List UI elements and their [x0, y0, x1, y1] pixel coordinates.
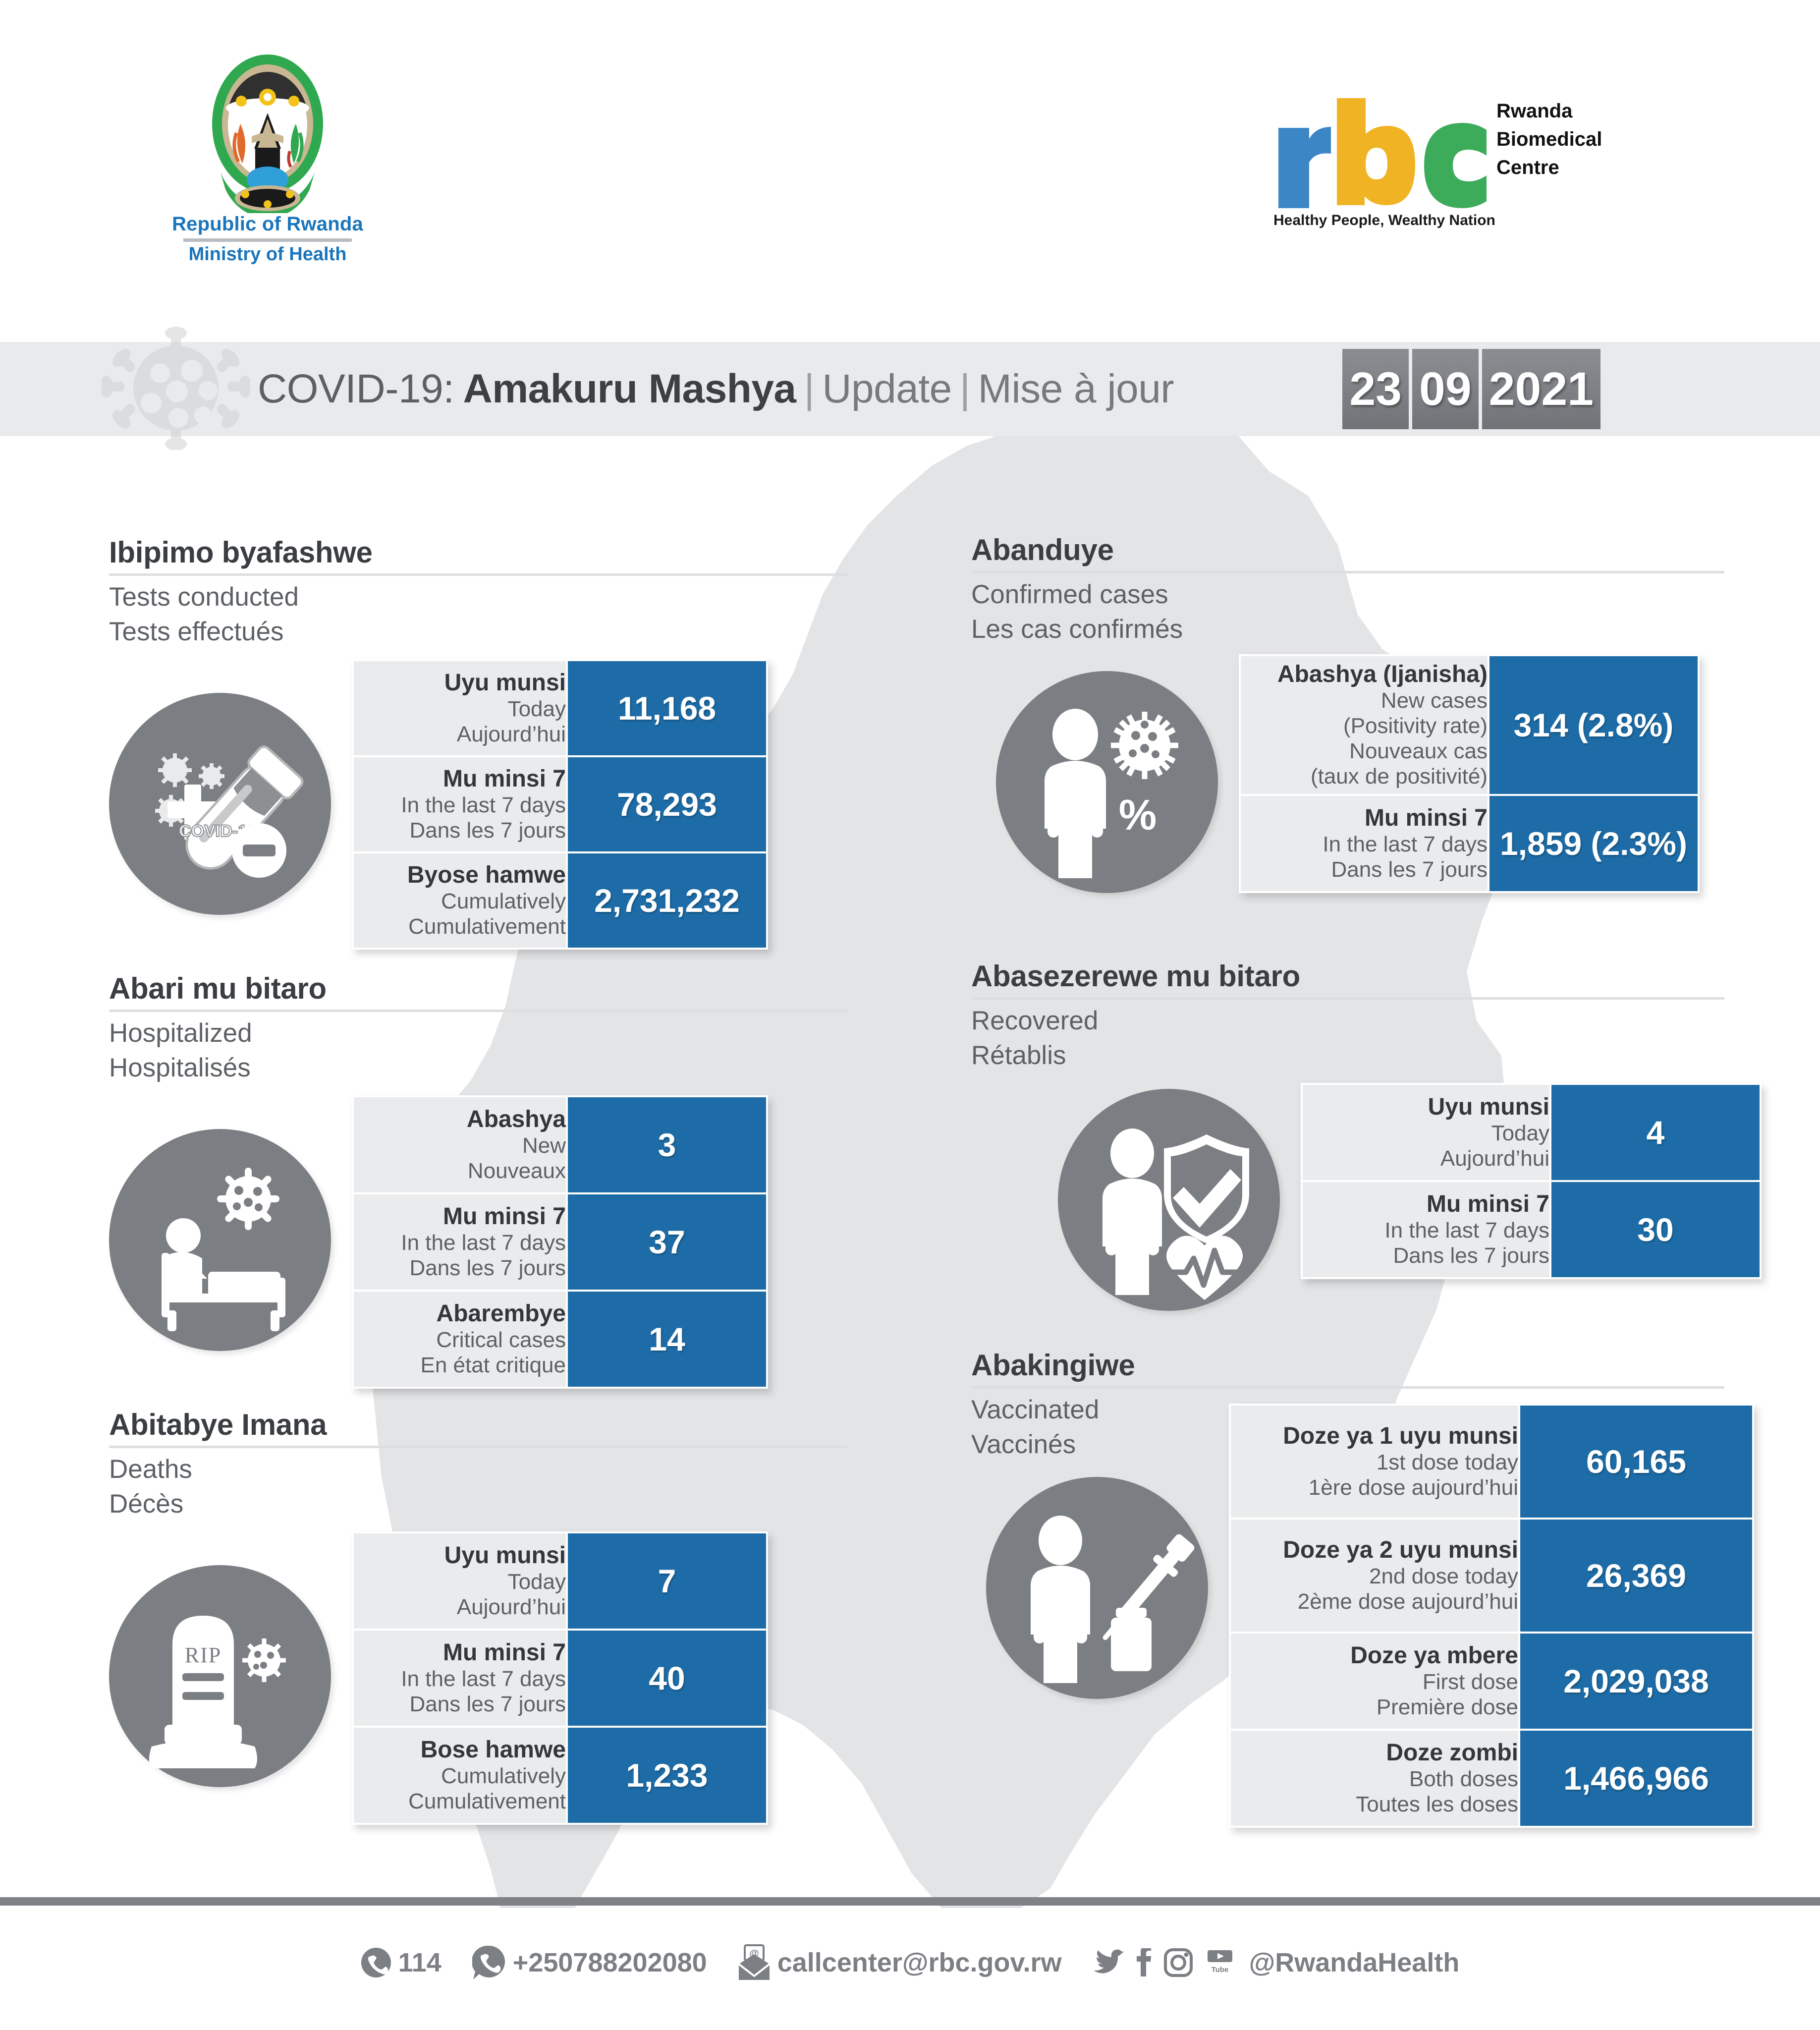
table-row: Doze ya 2 uyu munsi 2nd dose today 2ème …	[1230, 1519, 1753, 1633]
row-label-en: 2nd dose today	[1231, 1564, 1518, 1589]
row-label-en: Today	[1303, 1121, 1549, 1146]
row-label-fr: Dans les 7 jours	[354, 1692, 566, 1717]
row-label-rw: Doze ya 1 uyu munsi	[1231, 1423, 1518, 1450]
row-value: 78,293	[567, 756, 767, 852]
row-label-fr: Dans les 7 jours	[1303, 1243, 1549, 1268]
vaccinated-table: Doze ya 1 uyu munsi 1st dose today 1ère …	[1229, 1404, 1754, 1828]
rbc-wordmark-icon	[1273, 94, 1491, 208]
row-value: 37	[567, 1193, 767, 1291]
section-recovered-divider	[971, 997, 1724, 1000]
tests-table: Uyu munsi Today Aujourd’hui 11,168 Mu mi…	[352, 659, 768, 950]
row-label-fr: Cumulativement	[354, 914, 566, 939]
facebook-icon[interactable]	[1136, 1948, 1151, 1977]
instagram-icon[interactable]	[1164, 1948, 1193, 1977]
row-label-fr: Aujourd’hui	[354, 722, 566, 747]
row-value: 1,233	[567, 1727, 767, 1824]
table-row: Mu minsi 7 In the last 7 days Dans les 7…	[353, 756, 767, 852]
table-row: Mu minsi 7 In the last 7 days Dans les 7…	[1302, 1181, 1761, 1278]
row-label-rw: Mu minsi 7	[1241, 805, 1488, 832]
row-label-fr: Dans les 7 jours	[354, 818, 566, 843]
row-label-en: In the last 7 days	[354, 1230, 566, 1255]
section-tests-title-en: Tests conducted	[109, 580, 847, 615]
row-label-rw: Doze ya mbere	[1231, 1642, 1518, 1669]
banner-title-rw: Amakuru Mashya	[463, 366, 796, 412]
footer-social-icons: Tube	[1093, 1948, 1234, 1977]
left-column: Ibipimo byafashwe Tests conducted Tests …	[0, 436, 910, 1903]
row-label-en: Critical cases	[354, 1327, 566, 1353]
svg-text:Tube: Tube	[1211, 1966, 1228, 1974]
row-value: 2,731,232	[567, 852, 767, 949]
table-row: Mu minsi 7 In the last 7 days Dans les 7…	[1240, 795, 1699, 892]
right-column: Abanduye Confirmed cases Les cas confirm…	[910, 436, 1820, 1903]
row-label-en: Cumulatively	[354, 889, 566, 914]
phone-icon	[361, 1947, 391, 1978]
row-label-fr: 2ème dose aujourd’hui	[1231, 1589, 1518, 1614]
section-hospitalized-title-en: Hospitalized	[109, 1016, 847, 1051]
section-hospitalized-divider	[109, 1010, 847, 1012]
row-label-fr: Première dose	[1231, 1694, 1518, 1720]
table-row: Mu minsi 7 In the last 7 days Dans les 7…	[353, 1630, 767, 1727]
banner-prefix: COVID-19:	[258, 366, 454, 412]
row-label-rw: Mu minsi 7	[354, 766, 566, 792]
person-virus-percent-icon: %	[996, 671, 1218, 893]
moh-logo-divider	[183, 238, 352, 242]
row-label-rw: Abashya (Ijanisha)	[1241, 661, 1488, 688]
hospitalized-table: Abashya New Nouveaux 3 Mu minsi 7 In the…	[352, 1095, 768, 1389]
rbc-name-line3: Centre	[1496, 154, 1655, 182]
banner-title-en: Update	[822, 366, 951, 412]
row-label-en: First dose	[1231, 1669, 1518, 1694]
twitter-icon[interactable]	[1093, 1949, 1123, 1976]
row-label-fr: Dans les 7 jours	[354, 1255, 566, 1281]
row-label-en: Cumulatively	[354, 1763, 566, 1789]
row-value: 7	[567, 1532, 767, 1630]
banner-separator-1: |	[796, 366, 823, 412]
row-value: 4	[1550, 1084, 1761, 1181]
rbc-tagline: Healthy People, Wealthy Nation	[1273, 212, 1501, 229]
section-deaths-title-rw: Abitabye Imana	[109, 1408, 847, 1442]
section-deaths-title-en: Deaths	[109, 1452, 847, 1487]
section-confirmed-title-rw: Abanduye	[971, 533, 1724, 567]
row-label-rw: Mu minsi 7	[354, 1639, 566, 1666]
banner-title-fr: Mise à jour	[978, 366, 1174, 412]
row-label-rw: Doze ya 2 uyu munsi	[1231, 1537, 1518, 1564]
row-value: 1,859 (2.3%)	[1489, 795, 1699, 892]
row-label-fr: 1ère dose aujourd’hui	[1231, 1475, 1518, 1500]
section-vaccinated-divider	[971, 1386, 1724, 1389]
confirmed-table: Abashya (Ijanisha) New cases (Positivity…	[1239, 654, 1700, 893]
table-row: Uyu munsi Today Aujourd’hui 7	[353, 1532, 767, 1630]
recovered-table: Uyu munsi Today Aujourd’hui 4 Mu minsi 7…	[1301, 1083, 1762, 1279]
row-label-en: Today	[354, 696, 566, 722]
title-banner: COVID-19: Amakuru Mashya | Update | Mise…	[0, 342, 1820, 436]
whatsapp-icon	[472, 1945, 506, 1980]
section-tests-title-fr: Tests effectués	[109, 615, 847, 649]
moh-logo-line1: Republic of Rwanda	[164, 213, 372, 235]
footer-whatsapp[interactable]: +250788202080	[472, 1945, 707, 1980]
row-label-en: In the last 7 days	[354, 792, 566, 818]
table-row: Bose hamwe Cumulatively Cumulativement 1…	[353, 1727, 767, 1824]
section-vaccinated-title-rw: Abakingiwe	[971, 1348, 1724, 1382]
row-label-rw: Bose hamwe	[354, 1737, 566, 1763]
footer-phone-long-text: +250788202080	[513, 1947, 707, 1978]
row-label-fr: Aujourd’hui	[1303, 1146, 1549, 1171]
section-hospitalized-header: Abari mu bitaro Hospitalized Hospitalisé…	[109, 971, 847, 1085]
statistics-content: Ibipimo byafashwe Tests conducted Tests …	[0, 436, 1820, 1903]
test-tube-covid-icon: COVID-19	[109, 693, 331, 915]
row-label-rw: Mu minsi 7	[354, 1203, 566, 1230]
svg-text:%: %	[1119, 791, 1157, 839]
moh-logo-line2: Ministry of Health	[164, 244, 372, 265]
row-label-en: 1st dose today	[1231, 1450, 1518, 1475]
row-label-en: Both doses	[1231, 1766, 1518, 1792]
table-row: Mu minsi 7 In the last 7 days Dans les 7…	[353, 1193, 767, 1291]
section-tests-header: Ibipimo byafashwe Tests conducted Tests …	[109, 535, 847, 649]
row-label-en: New	[354, 1133, 566, 1158]
row-label-rw: Doze zombi	[1231, 1740, 1518, 1766]
row-value: 30	[1550, 1181, 1761, 1278]
deaths-table: Uyu munsi Today Aujourd’hui 7 Mu minsi 7…	[352, 1531, 768, 1825]
row-value: 26,369	[1519, 1519, 1753, 1633]
row-label-en: Today	[354, 1569, 566, 1594]
section-recovered-title-en: Recovered	[971, 1004, 1724, 1038]
section-hospitalized-title-rw: Abari mu bitaro	[109, 971, 847, 1006]
row-label-rw: Mu minsi 7	[1303, 1191, 1549, 1218]
date-day: 23	[1342, 349, 1409, 429]
row-value: 2,029,038	[1519, 1633, 1753, 1730]
person-syringe-vial-icon	[986, 1477, 1208, 1699]
date-year: 2021	[1482, 349, 1600, 429]
footer-social-handle[interactable]: @RwandaHealth	[1242, 1947, 1460, 1978]
footer-contact-bar: 114 +250788202080 @ callcenter@rbc.gov.r…	[0, 1933, 1820, 1992]
row-label-rw: Uyu munsi	[354, 1542, 566, 1569]
section-tests-title-rw: Ibipimo byafashwe	[109, 535, 847, 569]
section-deaths-title-fr: Décès	[109, 1487, 847, 1522]
row-label-fr: Dans les 7 jours	[1241, 857, 1488, 882]
row-label-rw: Uyu munsi	[1303, 1094, 1549, 1121]
footer-social-handle-text: @RwandaHealth	[1249, 1947, 1460, 1978]
row-label-en: New cases	[1241, 688, 1488, 713]
footer-email-text: callcenter@rbc.gov.rw	[777, 1947, 1062, 1978]
section-confirmed-title-fr: Les cas confirmés	[971, 612, 1724, 647]
row-label-en2: (Positivity rate)	[1241, 713, 1488, 738]
infographic-page: Republic of Rwanda Ministry of Health Rw…	[0, 0, 1820, 2030]
row-label-en: In the last 7 days	[1303, 1218, 1549, 1243]
row-label-fr: Nouveaux	[354, 1158, 566, 1184]
section-hospitalized-title-fr: Hospitalisés	[109, 1051, 847, 1085]
banner-separator-2: |	[952, 366, 978, 412]
row-label-fr2: (taux de positivité)	[1241, 764, 1488, 789]
row-value: 314 (2.8%)	[1489, 655, 1699, 795]
table-row: Doze zombi Both doses Toutes les doses 1…	[1230, 1730, 1753, 1827]
rbc-name-line1: Rwanda	[1496, 97, 1655, 125]
svg-text:RIP: RIP	[185, 1643, 221, 1667]
row-value: 1,466,966	[1519, 1730, 1753, 1827]
table-row: Abarembye Critical cases En état critiqu…	[353, 1291, 767, 1388]
section-deaths-divider	[109, 1446, 847, 1448]
table-row: Abashya New Nouveaux 3	[353, 1096, 767, 1193]
rbc-name-line2: Biomedical	[1496, 125, 1655, 154]
section-recovered-title-rw: Abasezerewe mu bitaro	[971, 959, 1724, 993]
table-row: Abashya (Ijanisha) New cases (Positivity…	[1240, 655, 1699, 795]
youtube-icon[interactable]: Tube	[1206, 1948, 1234, 1977]
row-value: 14	[567, 1291, 767, 1388]
table-row: Byose hamwe Cumulatively Cumulativement …	[353, 852, 767, 949]
row-label-rw: Abarembye	[354, 1300, 566, 1327]
date-month: 09	[1412, 349, 1479, 429]
row-label-fr: Aujourd’hui	[354, 1594, 566, 1620]
footer-email[interactable]: @ callcenter@rbc.gov.rw	[738, 1944, 1062, 1981]
row-label-fr: Toutes les doses	[1231, 1792, 1518, 1817]
row-label-fr: En état critique	[354, 1353, 566, 1378]
person-shield-heartbeat-icon	[1058, 1089, 1280, 1311]
table-row: Doze ya mbere First dose Première dose 2…	[1230, 1633, 1753, 1730]
rbc-logo: Rwanda Biomedical Centre Healthy People,…	[1273, 94, 1650, 258]
row-label-rw: Abashya	[354, 1106, 566, 1133]
coronavirus-icon	[102, 326, 250, 450]
section-confirmed-title-en: Confirmed cases	[971, 577, 1724, 612]
ministry-of-health-logo: Republic of Rwanda Ministry of Health	[164, 50, 372, 258]
table-row: Uyu munsi Today Aujourd’hui 11,168	[353, 660, 767, 756]
rwanda-coat-of-arms-icon	[206, 50, 330, 213]
section-recovered-title-fr: Rétablis	[971, 1038, 1724, 1073]
tombstone-rip-icon: RIP	[109, 1565, 331, 1787]
row-label-rw: Uyu munsi	[354, 670, 566, 696]
table-row: Doze ya 1 uyu munsi 1st dose today 1ère …	[1230, 1405, 1753, 1519]
section-deaths-header: Abitabye Imana Deaths Décès	[109, 1408, 847, 1522]
footer-phone-short-text: 114	[398, 1947, 441, 1978]
section-confirmed-divider	[971, 571, 1724, 573]
row-value: 11,168	[567, 660, 767, 756]
email-icon: @	[738, 1944, 771, 1981]
hospital-bed-patient-icon	[109, 1129, 331, 1351]
footer-phone-short[interactable]: 114	[361, 1947, 441, 1978]
row-value: 40	[567, 1630, 767, 1727]
banner-title: COVID-19: Amakuru Mashya | Update | Mise…	[258, 342, 1174, 436]
section-confirmed-header: Abanduye Confirmed cases Les cas confirm…	[971, 533, 1724, 647]
row-label-fr: Cumulativement	[354, 1789, 566, 1814]
row-value: 3	[567, 1096, 767, 1193]
row-label-en: In the last 7 days	[1241, 832, 1488, 857]
row-value: 60,165	[1519, 1405, 1753, 1519]
table-row: Uyu munsi Today Aujourd’hui 4	[1302, 1084, 1761, 1181]
row-label-fr: Nouveaux cas	[1241, 738, 1488, 764]
footer-divider	[0, 1897, 1820, 1906]
row-label-rw: Byose hamwe	[354, 862, 566, 889]
update-date: 23 09 2021	[1342, 349, 1600, 429]
section-tests-divider	[109, 573, 847, 576]
row-label-en: In the last 7 days	[354, 1666, 566, 1692]
section-recovered-header: Abasezerewe mu bitaro Recovered Rétablis	[971, 959, 1724, 1073]
